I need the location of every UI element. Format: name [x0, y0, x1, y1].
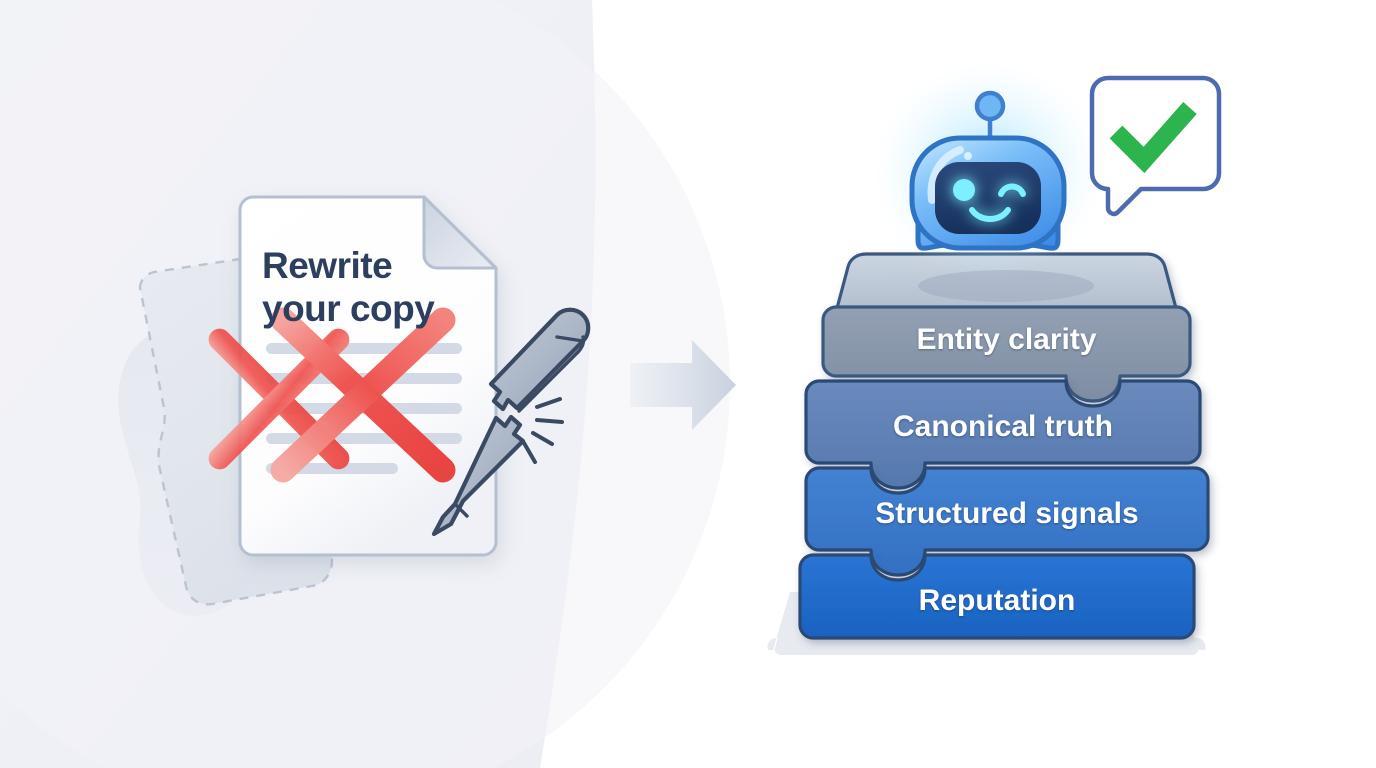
robot-layer [0, 0, 1376, 768]
robot-face-screen [935, 162, 1041, 234]
illustration-canvas: Rewrite your copy [0, 0, 1376, 768]
robot-head [912, 138, 1064, 248]
robot-highlight-dot [964, 152, 972, 160]
robot-eye-open-icon [953, 179, 975, 201]
speech-bubble[interactable] [1092, 78, 1219, 214]
